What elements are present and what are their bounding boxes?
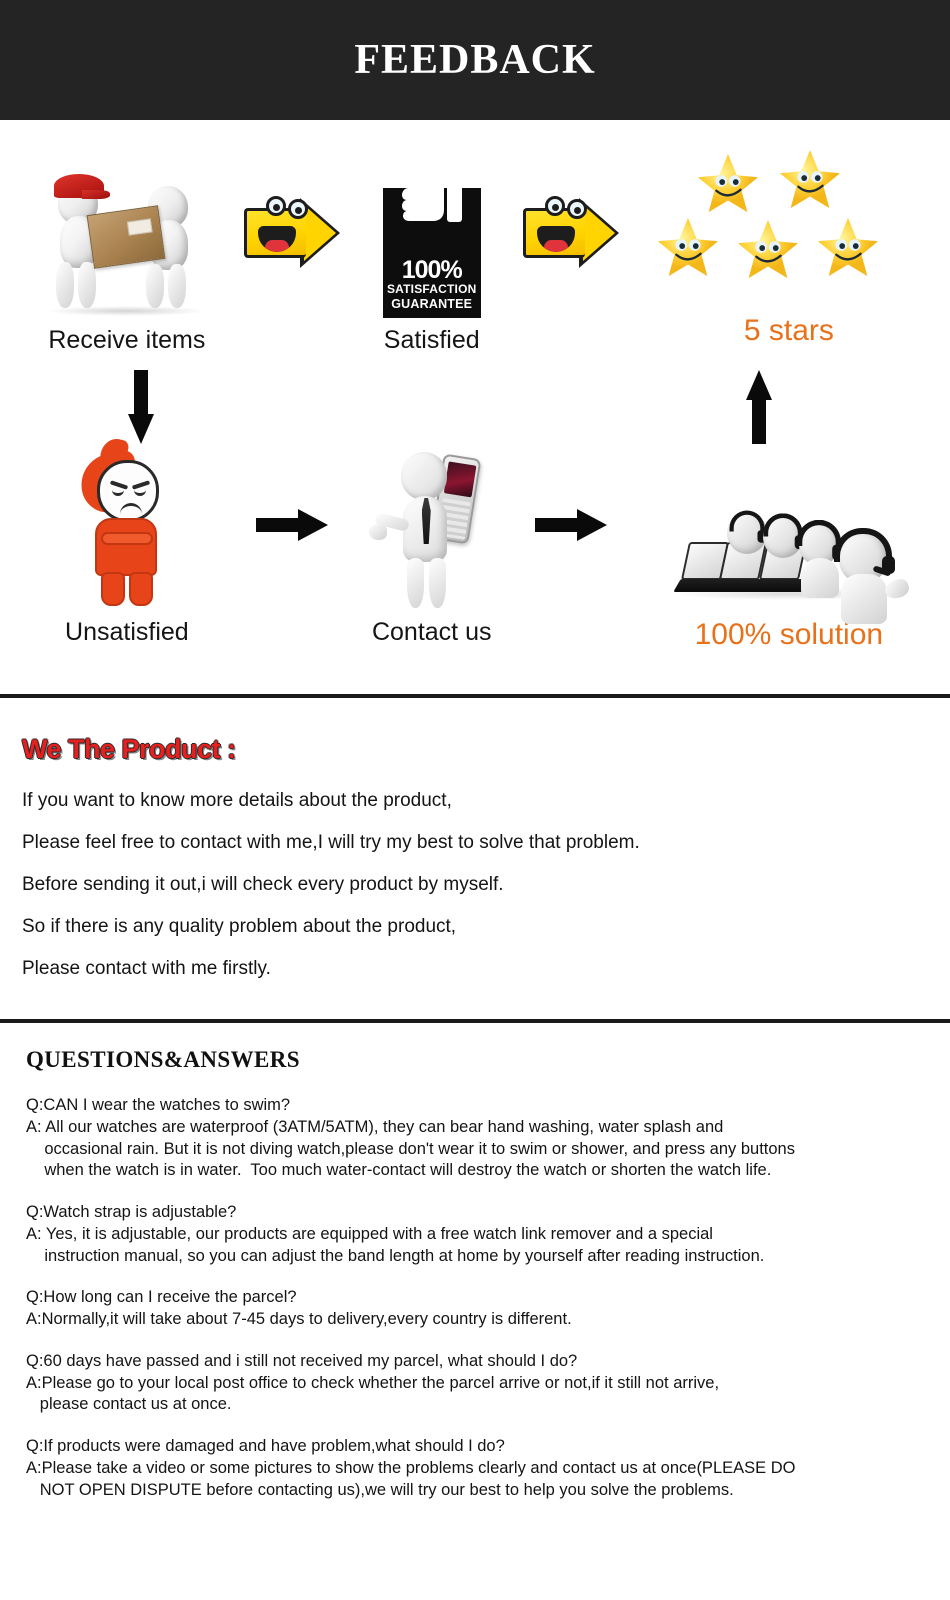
qa-question: Q:CAN I wear the watches to swim? — [26, 1095, 924, 1117]
questions-answers-section: QUESTIONS&ANSWERS Q:CAN I wear the watch… — [0, 1023, 950, 1501]
page-header: FEEDBACK — [0, 0, 950, 120]
qa-item: Q:60 days have passed and i still not re… — [26, 1351, 924, 1416]
smiley-arrow-right-icon-2 — [514, 148, 627, 318]
flow-label-receive-items: Receive items — [48, 326, 205, 355]
flow-step-contact-us: Contact us — [349, 440, 515, 647]
sign-line-2: GUARANTEE — [391, 297, 472, 311]
product-note-line: Please contact with me firstly. — [22, 959, 928, 978]
flow-row-top: Receive items — [0, 148, 950, 398]
delivery-people-icon — [32, 148, 222, 318]
flow-step-solution: 100% solution — [628, 440, 950, 652]
flow-step-five-stars: 5 stars — [628, 148, 950, 348]
feedback-flow-diagram: Receive items — [0, 120, 950, 698]
product-note-line: If you want to know more details about t… — [22, 791, 928, 810]
flow-step-unsatisfied: Unsatisfied — [18, 440, 236, 647]
product-note-line: Please feel free to contact with me,I wi… — [22, 833, 928, 852]
qa-item: Q:If products were damaged and have prob… — [26, 1436, 924, 1501]
qa-answer: A: Yes, it is adjustable, our products a… — [26, 1224, 924, 1268]
qa-answer: A: All our watches are waterproof (3ATM/… — [26, 1117, 924, 1182]
qa-answer: A:Please go to your local post office to… — [26, 1373, 924, 1417]
thumbs-up-icon — [399, 162, 465, 224]
sign-line-1: SATISFACTION — [387, 283, 477, 297]
qa-answer: A:Please take a video or some pictures t… — [26, 1458, 924, 1502]
flow-step-receive-items: Receive items — [18, 148, 236, 355]
arrow-right-icon-1 — [236, 440, 349, 610]
call-center-icon — [671, 440, 907, 610]
five-smiley-stars-icon — [639, 148, 939, 328]
qa-answer: A:Normally,it will take about 7-45 days … — [26, 1309, 924, 1331]
qa-question: Q:Watch strap is adjustable? — [26, 1202, 924, 1224]
flow-row-bottom: Unsatisfied — [0, 440, 950, 680]
flow-label-five-stars: 5 stars — [744, 314, 834, 348]
qa-section-title: QUESTIONS&ANSWERS — [26, 1047, 924, 1073]
angry-child-icon — [79, 440, 175, 610]
qa-item: Q:CAN I wear the watches to swim? A: All… — [26, 1095, 924, 1182]
flow-label-unsatisfied: Unsatisfied — [65, 618, 189, 647]
product-note-line: Before sending it out,i will check every… — [22, 875, 928, 894]
feedback-page: FEEDBACK — [0, 0, 950, 1600]
flow-label-satisfied: Satisfied — [384, 326, 480, 355]
qa-item: Q:Watch strap is adjustable? A: Yes, it … — [26, 1202, 924, 1267]
product-note-title: We The Product : — [22, 734, 928, 765]
product-note-line: So if there is any quality problem about… — [22, 917, 928, 936]
flow-step-satisfied: 100% SATISFACTION GUARANTEE Satisfied — [349, 148, 515, 355]
arrow-right-icon-2 — [514, 440, 627, 610]
qa-question: Q:How long can I receive the parcel? — [26, 1287, 924, 1309]
qa-question: Q:60 days have passed and i still not re… — [26, 1351, 924, 1373]
arrow-up-icon — [746, 370, 772, 444]
person-with-phone-icon — [367, 440, 497, 610]
qa-item: Q:How long can I receive the parcel? A:N… — [26, 1287, 924, 1331]
smiley-arrow-right-icon-1 — [236, 148, 349, 318]
satisfaction-guarantee-sign-icon: 100% SATISFACTION GUARANTEE — [383, 148, 481, 318]
arrow-down-icon — [128, 370, 154, 444]
product-note-section: We The Product : If you want to know mor… — [0, 698, 950, 1023]
flow-label-contact-us: Contact us — [372, 618, 492, 647]
qa-question: Q:If products were damaged and have prob… — [26, 1436, 924, 1458]
page-title: FEEDBACK — [354, 36, 595, 84]
sign-percent: 100% — [402, 258, 462, 283]
